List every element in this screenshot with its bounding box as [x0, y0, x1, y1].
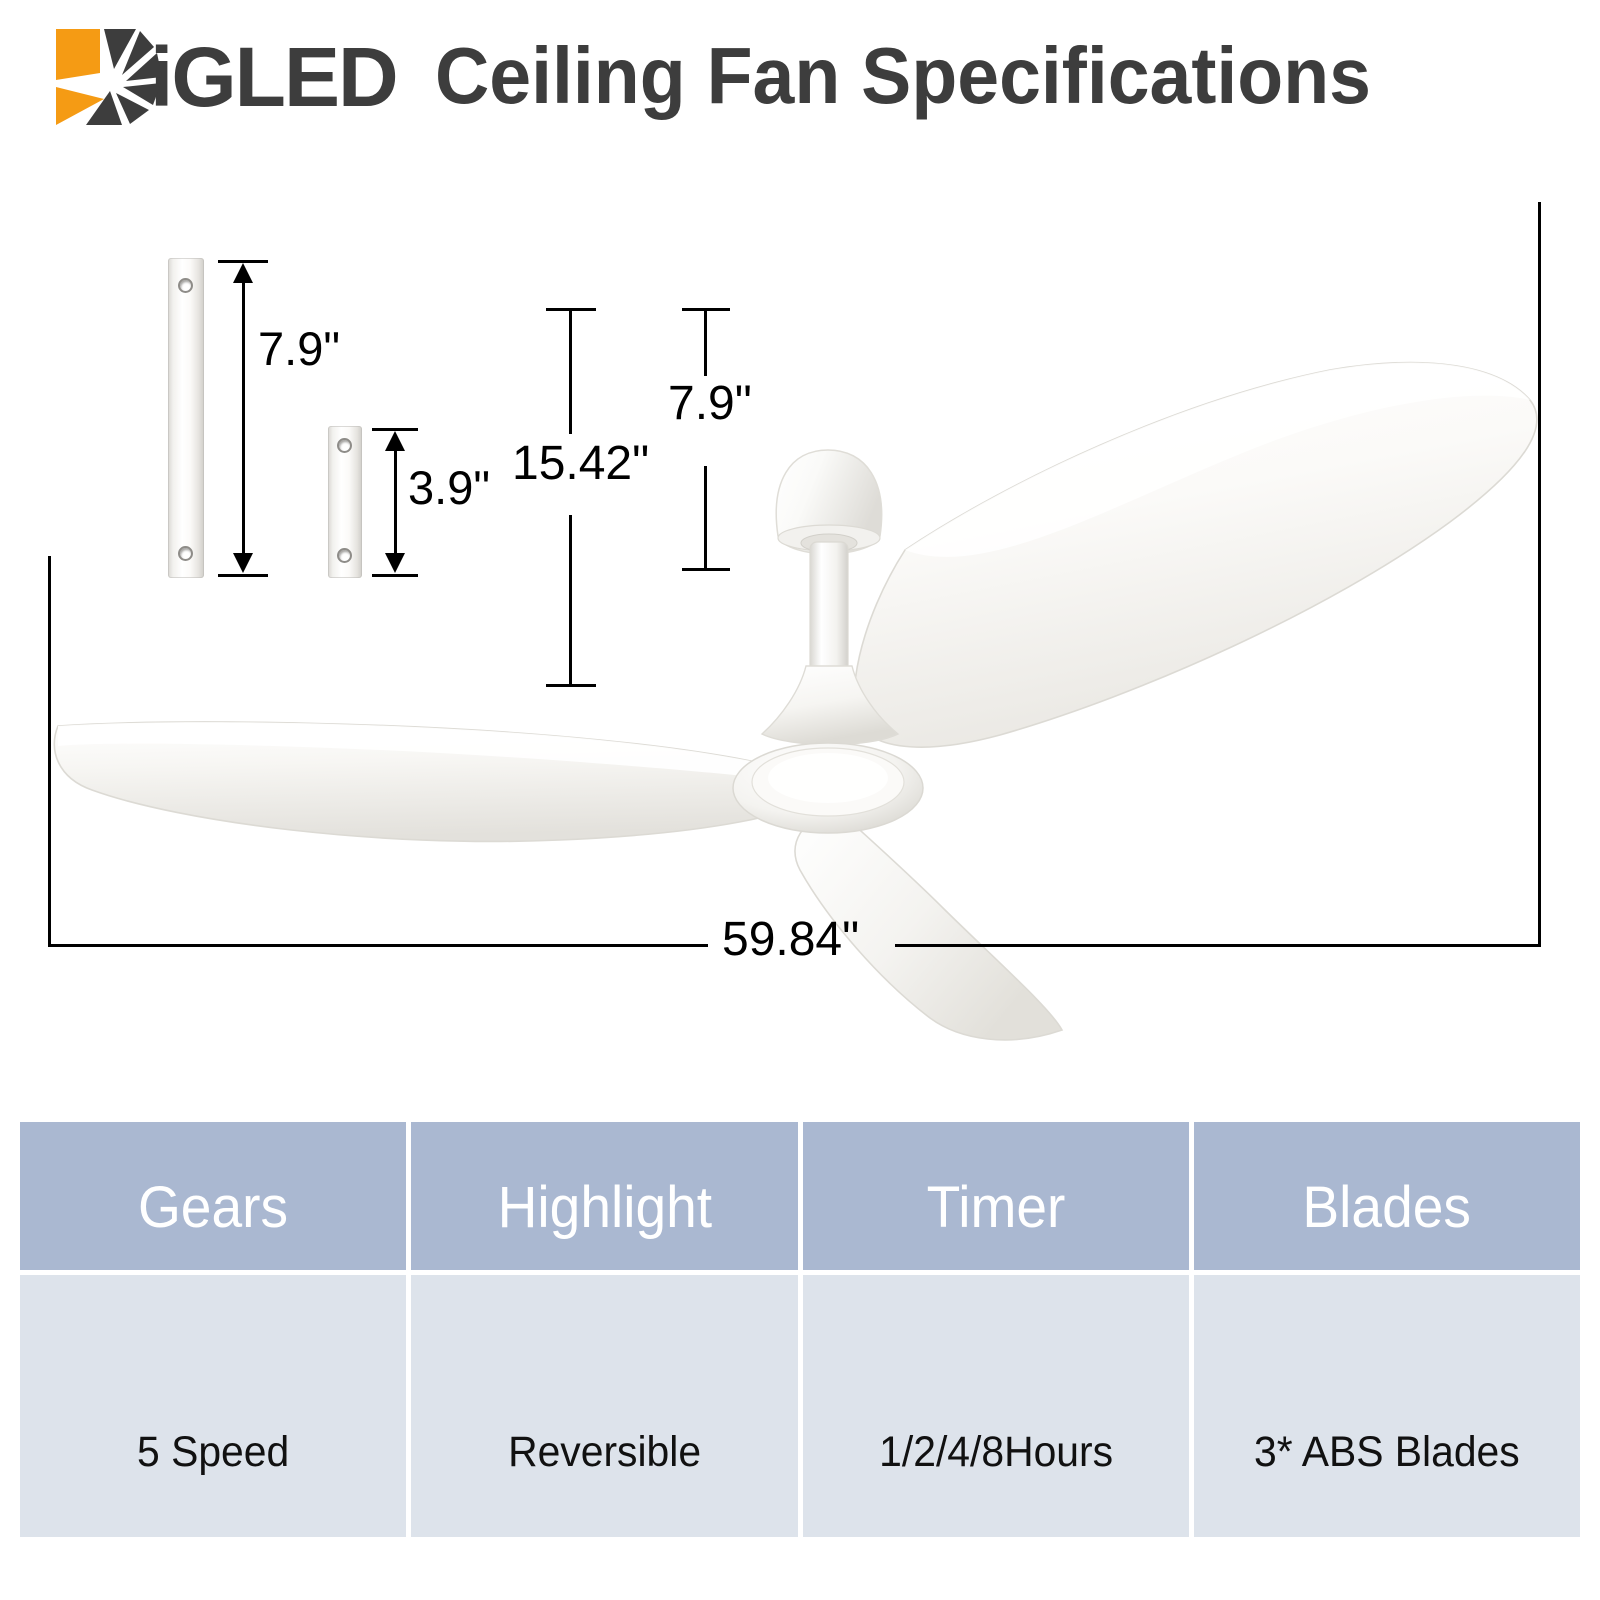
dim-extension-left [48, 556, 51, 946]
dim-label-downrod-long: 7.9" [258, 325, 340, 372]
table-header-row: Gears Highlight Timer Blades [20, 1122, 1580, 1270]
dim-line-drop-lower [704, 466, 707, 570]
specification-sheet: iGLED Ceiling Fan Specifications [0, 0, 1600, 1600]
dim-line-long [242, 278, 245, 556]
downrod [810, 542, 848, 674]
dim-line-span-left [48, 944, 708, 947]
dim-label-total-height: 15.42" [512, 440, 649, 488]
table-cell-gears: 5 Speed [20, 1275, 406, 1537]
downrod-long-hole-bottom [178, 546, 193, 561]
digled-logo-icon [52, 25, 168, 129]
dim-arrow-down-short [385, 553, 405, 573]
dim-tick-bottom-short [372, 574, 418, 577]
dim-line-total-upper [569, 310, 572, 434]
specifications-table: Gears Highlight Timer Blades 5 Speed Rev… [20, 1122, 1580, 1537]
table-data-row: 5 Speed Reversible 1/2/4/8Hours 3* ABS B… [20, 1275, 1580, 1537]
dim-label-blade-span: 59.84" [722, 916, 859, 964]
downrod-long-hole-top [178, 278, 193, 293]
downrod-short-hole-bottom [337, 548, 352, 563]
table-header-timer: Timer [803, 1122, 1189, 1270]
table-cell-blades: 3* ABS Blades [1194, 1275, 1580, 1537]
page-header: iGLED Ceiling Fan Specifications [0, 0, 1600, 150]
dim-extension-right [1538, 202, 1541, 946]
fan-dimension-diagram: 7.9" 3.9" 15.42" 7.9" 59.84" [0, 150, 1600, 1060]
dim-line-drop-upper [704, 310, 707, 376]
table-cell-timer: 1/2/4/8Hours [803, 1275, 1189, 1537]
downrod-long-part [168, 258, 204, 578]
dim-arrow-down-long [233, 553, 253, 573]
table-cell-highlight: Reversible [411, 1275, 797, 1537]
dim-line-span-right [895, 944, 1541, 947]
table-header-gears: Gears [20, 1122, 406, 1270]
logo-wordmark: iGLED [150, 35, 397, 119]
dim-line-total-lower [569, 515, 572, 685]
downrod-short-hole-top [337, 438, 352, 453]
page-title: Ceiling Fan Specifications [435, 36, 1371, 116]
dim-tick-bottom-long [218, 574, 268, 577]
table-header-highlight: Highlight [411, 1122, 797, 1270]
table-header-blades: Blades [1194, 1122, 1580, 1270]
dim-line-short [394, 446, 397, 556]
dim-label-downrod-short: 3.9" [408, 464, 490, 511]
dim-label-drop-height: 7.9" [668, 380, 752, 428]
